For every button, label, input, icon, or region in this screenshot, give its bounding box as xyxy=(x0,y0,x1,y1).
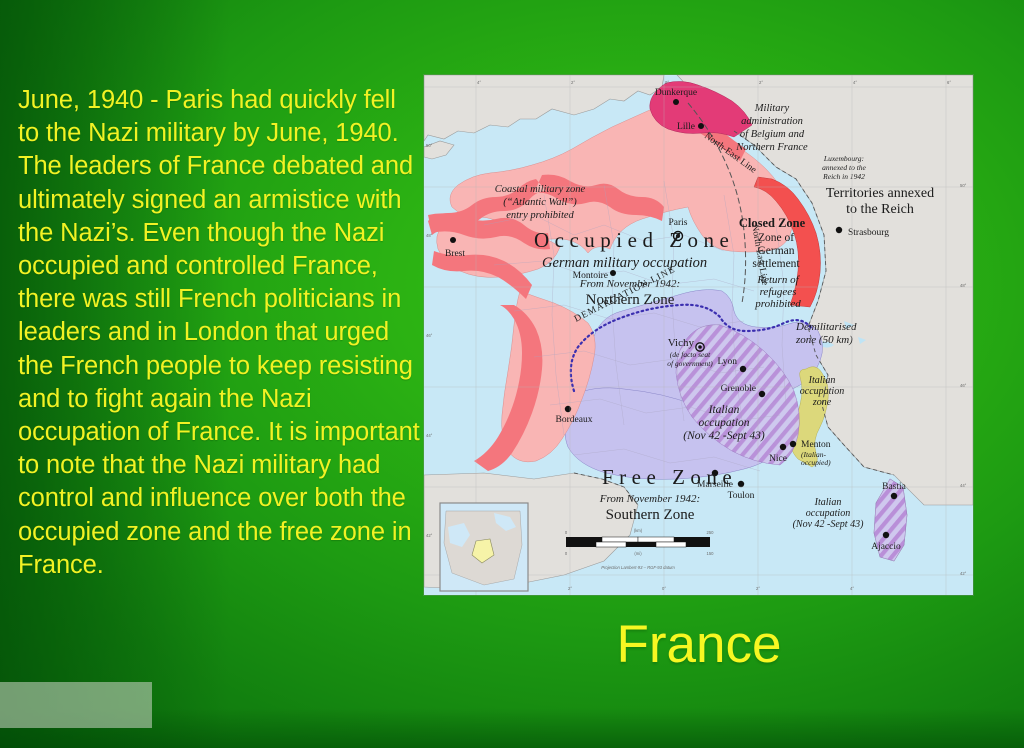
svg-text:4°: 4° xyxy=(850,586,854,591)
scale-mi-label: (mi) xyxy=(634,551,642,556)
svg-text:occupation: occupation xyxy=(806,508,850,519)
svg-text:50°: 50° xyxy=(960,183,967,188)
svg-text:(de facto seat: (de facto seat xyxy=(670,350,711,359)
city-label-lille: Lille xyxy=(677,122,695,132)
label-luxembourg-annexed: Luxembourg: annexed to the Reich in 1942 xyxy=(822,154,866,181)
svg-text:4°: 4° xyxy=(477,80,481,85)
svg-text:2°: 2° xyxy=(759,80,763,85)
svg-text:2°: 2° xyxy=(571,80,575,85)
city-label-ajaccio: Ajaccio xyxy=(871,542,901,552)
city-dot-grenoble xyxy=(759,391,765,397)
placeholder-rectangle xyxy=(0,682,152,728)
label-german-military-occupation: German military occupation xyxy=(542,255,707,271)
svg-text:44°: 44° xyxy=(960,483,967,488)
label-southern-zone: Southern Zone xyxy=(606,507,695,523)
city-label-brest: Brest xyxy=(445,249,465,259)
city-label-strasbourg: Strasbourg xyxy=(848,228,889,238)
svg-text:to the Reich: to the Reich xyxy=(846,202,914,217)
svg-text:Italian: Italian xyxy=(814,497,842,508)
city-dot-bastia xyxy=(891,493,897,499)
city-label-nice: Nice xyxy=(769,454,787,464)
scale-mi-end: 150 xyxy=(707,551,715,556)
svg-text:4°: 4° xyxy=(853,80,857,85)
label-coastal-military-zone: Coastal military zone (“Atlantic Wall”) … xyxy=(495,184,586,221)
city-label-toulon: Toulon xyxy=(728,491,755,501)
scale-projection-note: Projection Lambert-93 – RGF-93 datum xyxy=(601,565,675,570)
svg-text:refugees: refugees xyxy=(760,286,797,298)
label-demilitarised-zone: Demilitarised zone (50 km) xyxy=(795,321,857,346)
svg-text:occupation: occupation xyxy=(698,417,749,429)
svg-text:50°: 50° xyxy=(426,143,433,148)
city-label-vichy: Vichy xyxy=(668,337,695,349)
svg-text:(Nov 42 -Sept 43): (Nov 42 -Sept 43) xyxy=(683,430,765,442)
svg-text:(Nov 42 -Sept 43): (Nov 42 -Sept 43) xyxy=(793,519,864,530)
svg-text:46°: 46° xyxy=(960,383,967,388)
svg-text:44°: 44° xyxy=(426,433,433,438)
svg-text:48°: 48° xyxy=(426,233,433,238)
svg-text:2°: 2° xyxy=(568,586,572,591)
scale-km-end: 250 xyxy=(707,530,715,535)
svg-text:42°: 42° xyxy=(960,571,967,576)
city-dot-lyon xyxy=(740,366,746,372)
city-dot-menton xyxy=(790,441,796,447)
svg-text:zone (50 km): zone (50 km) xyxy=(795,334,853,346)
svg-text:occupied): occupied) xyxy=(801,458,831,467)
svg-text:48°: 48° xyxy=(960,283,967,288)
city-label-grenoble: Grenoble xyxy=(721,384,756,394)
svg-text:Military: Military xyxy=(754,103,790,114)
city-dot-strasbourg xyxy=(836,227,842,233)
city-label-bordeaux: Bordeaux xyxy=(556,415,593,425)
city-dot-dunkerque xyxy=(673,99,679,105)
city-label-lyon: Lyon xyxy=(717,357,737,367)
svg-text:administration: administration xyxy=(741,116,803,127)
city-dot-ajaccio xyxy=(883,532,889,538)
label-free-zone: Free Zone xyxy=(602,465,737,489)
svg-text:annexed to the: annexed to the xyxy=(822,163,866,172)
slide-title: France xyxy=(424,614,974,676)
city-dot-nice xyxy=(780,444,786,450)
label-vichy-seat: (de facto seat of government) xyxy=(667,350,713,368)
label-closed-zone: Closed Zone xyxy=(739,216,806,230)
city-label-dunkerque: Dunkerque xyxy=(655,88,697,98)
city-label-menton: Menton xyxy=(801,440,831,450)
city-dot-toulon xyxy=(738,481,744,487)
city-label-paris: Paris xyxy=(669,218,688,228)
svg-text:Northern France: Northern France xyxy=(735,142,808,153)
svg-text:42°: 42° xyxy=(426,533,433,538)
slide-body-text: June, 1940 - Paris had quickly fell to t… xyxy=(18,84,422,582)
svg-text:of government): of government) xyxy=(667,359,713,368)
svg-text:Italian: Italian xyxy=(708,404,740,416)
label-from-november-1942-south: From November 1942: xyxy=(599,493,700,505)
svg-text:occupation: occupation xyxy=(800,386,844,397)
city-dot-lille xyxy=(698,123,704,129)
map-image-france-occupation-zones: Dunkerque Lille Paris Brest Strasbourg M… xyxy=(424,75,973,595)
svg-text:Reich in 1942: Reich in 1942 xyxy=(822,172,865,181)
label-occupied-zone: Occupied Zone xyxy=(534,228,734,252)
svg-text:Luxembourg:: Luxembourg: xyxy=(823,154,864,163)
svg-text:Demilitarised: Demilitarised xyxy=(795,321,857,333)
city-dot-brest xyxy=(450,237,456,243)
svg-text:0°: 0° xyxy=(662,586,666,591)
svg-text:prohibited: prohibited xyxy=(754,298,801,310)
inset-locator-map xyxy=(440,503,528,591)
svg-text:0°: 0° xyxy=(665,80,669,85)
svg-text:Italian: Italian xyxy=(808,375,836,386)
scale-km-label: (km) xyxy=(634,528,643,533)
svg-text:2°: 2° xyxy=(756,586,760,591)
svg-text:Coastal military zone: Coastal military zone xyxy=(495,184,586,195)
svg-text:(“Atlantic Wall”): (“Atlantic Wall”) xyxy=(503,197,577,208)
svg-text:of Belgium and: of Belgium and xyxy=(740,129,805,140)
svg-text:zone: zone xyxy=(812,397,832,408)
svg-text:Territories annexed: Territories annexed xyxy=(826,186,934,201)
svg-text:entry prohibited: entry prohibited xyxy=(506,210,574,221)
svg-text:Zone of: Zone of xyxy=(758,232,794,244)
svg-text:46°: 46° xyxy=(426,333,433,338)
svg-text:6°: 6° xyxy=(947,80,951,85)
